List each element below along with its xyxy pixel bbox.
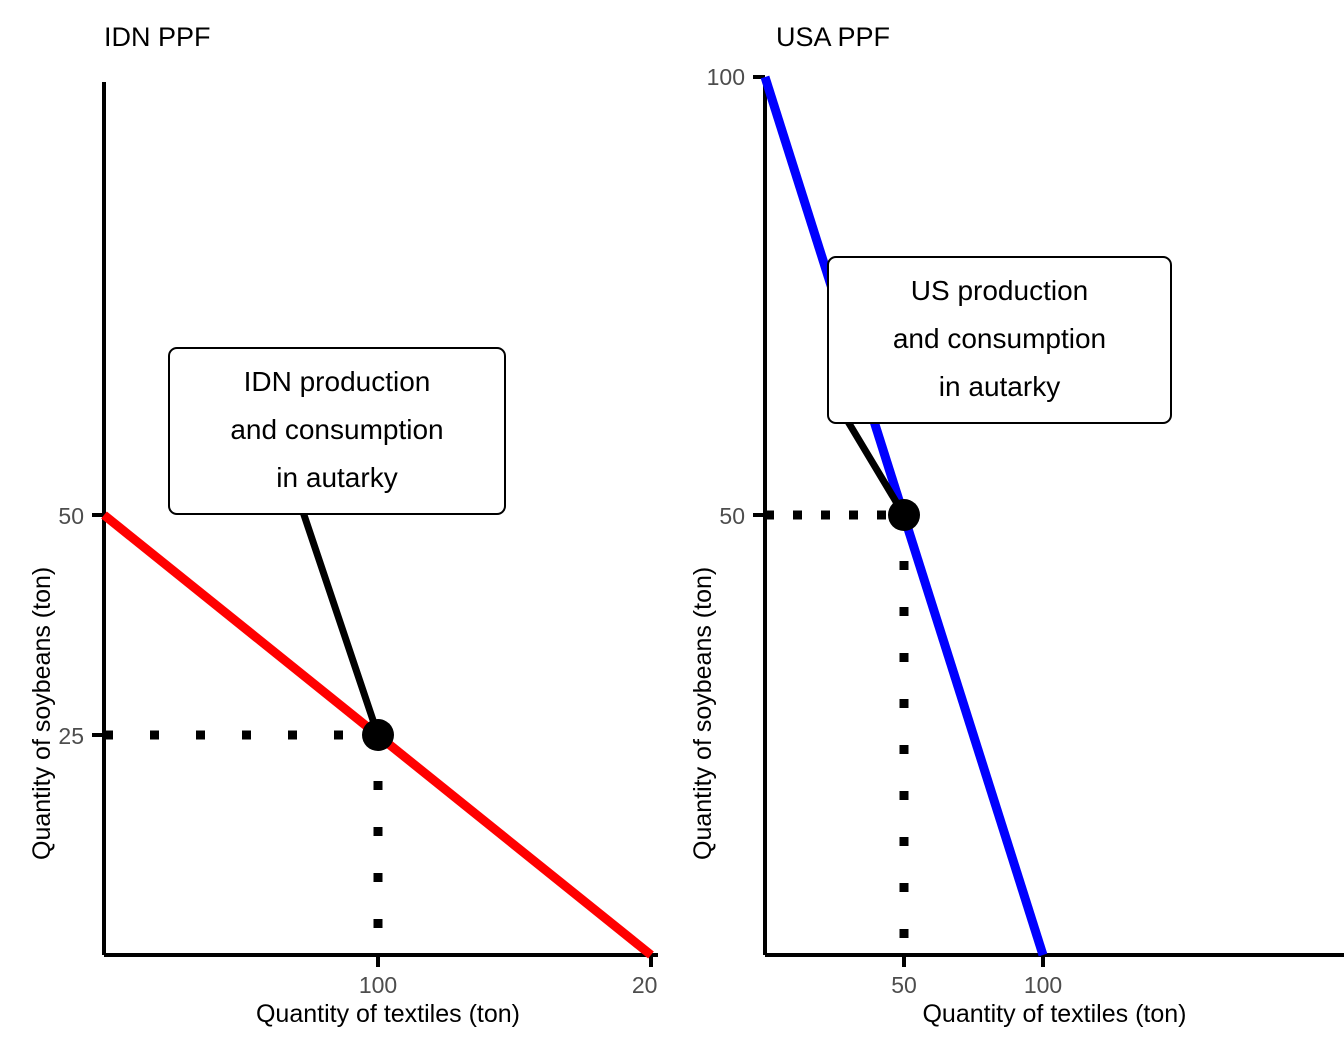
idn-x-axis-title: Quantity of textiles (ton)	[104, 1000, 672, 1029]
usa-y-axis-title: Quantity of soybeans (ton)	[689, 567, 718, 860]
usa-panel-title: USA PPF	[776, 22, 890, 53]
idn-panel-right-clip	[658, 80, 672, 1056]
usa-x-axis-title: Quantity of textiles (ton)	[765, 1000, 1344, 1029]
usa-xtick-label-100: 100	[993, 972, 1093, 999]
usa-callout-line-3: in autarky	[841, 363, 1158, 411]
idn-callout-line-3: in autarky	[182, 454, 492, 502]
usa-callout-line-2: and consumption	[841, 315, 1158, 363]
idn-plot-area	[0, 0, 672, 1056]
idn-callout-line-2: and consumption	[182, 406, 492, 454]
idn-panel-title: IDN PPF	[104, 22, 211, 53]
idn-ytick-label-50: 50	[32, 503, 84, 530]
usa-callout-line-1: US production	[841, 267, 1158, 315]
idn-autarky-point	[362, 719, 394, 751]
idn-y-axis-title: Quantity of soybeans (ton)	[28, 567, 57, 860]
chart-canvas: IDN PPF 50 25 100 200 Quantity of textil…	[0, 0, 1344, 1056]
usa-ytick-label-50: 50	[682, 503, 745, 530]
idn-xtick-label-100: 100	[328, 972, 428, 999]
idn-autarky-callout: IDN production and consumption in autark…	[168, 347, 506, 515]
panel-usa-ppf: USA PPF 100 50 50 100 Quantity of textil…	[672, 0, 1344, 1056]
panel-idn-ppf: IDN PPF 50 25 100 200 Quantity of textil…	[0, 0, 672, 1056]
usa-xtick-label-50: 50	[854, 972, 954, 999]
idn-callout-line-1: IDN production	[182, 358, 492, 406]
usa-plot-area	[672, 0, 1344, 1056]
usa-ytick-label-100: 100	[682, 64, 745, 91]
usa-autarky-callout: US production and consumption in autarky	[827, 256, 1172, 424]
usa-autarky-point	[888, 499, 920, 531]
